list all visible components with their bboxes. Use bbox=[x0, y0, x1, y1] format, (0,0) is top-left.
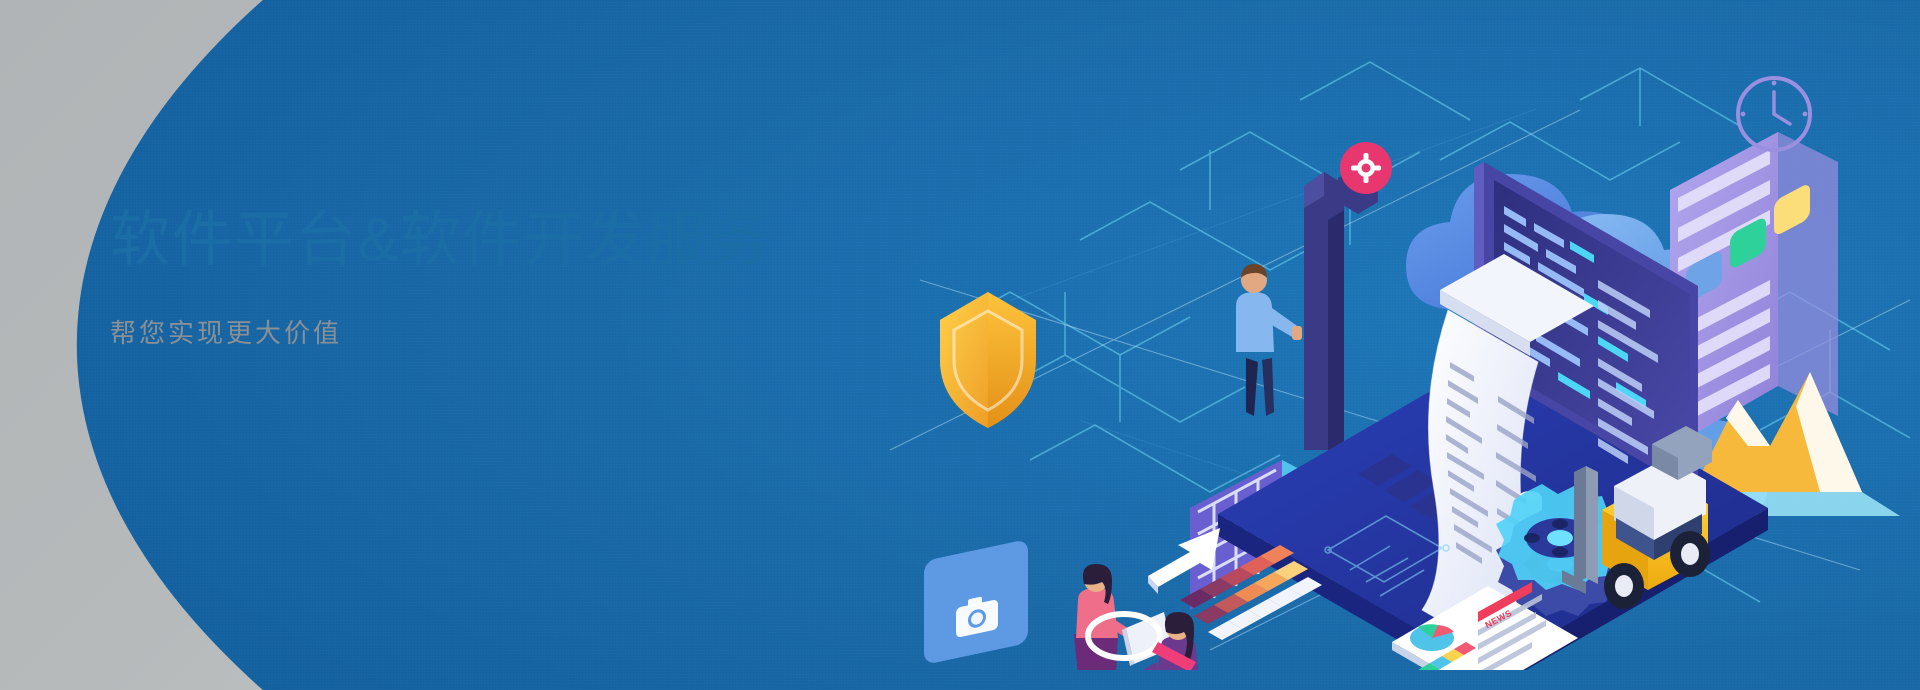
person-technician bbox=[1236, 264, 1302, 416]
banner-copy: 软件平台&软件开发服务 帮您实现更大价值 bbox=[110, 206, 870, 350]
camera-icon-tile bbox=[910, 539, 1034, 665]
wrench-icon bbox=[1304, 142, 1392, 460]
page-subtitle: 帮您实现更大价值 bbox=[110, 313, 870, 350]
page-title: 软件平台&软件开发服务 bbox=[110, 206, 870, 273]
hero-banner: 软件平台&软件开发服务 帮您实现更大价值 bbox=[0, 0, 1920, 690]
shield-icon bbox=[940, 292, 1036, 428]
isometric-scene bbox=[880, 30, 1920, 670]
hero-illustration: NEWS bbox=[880, 30, 1920, 670]
